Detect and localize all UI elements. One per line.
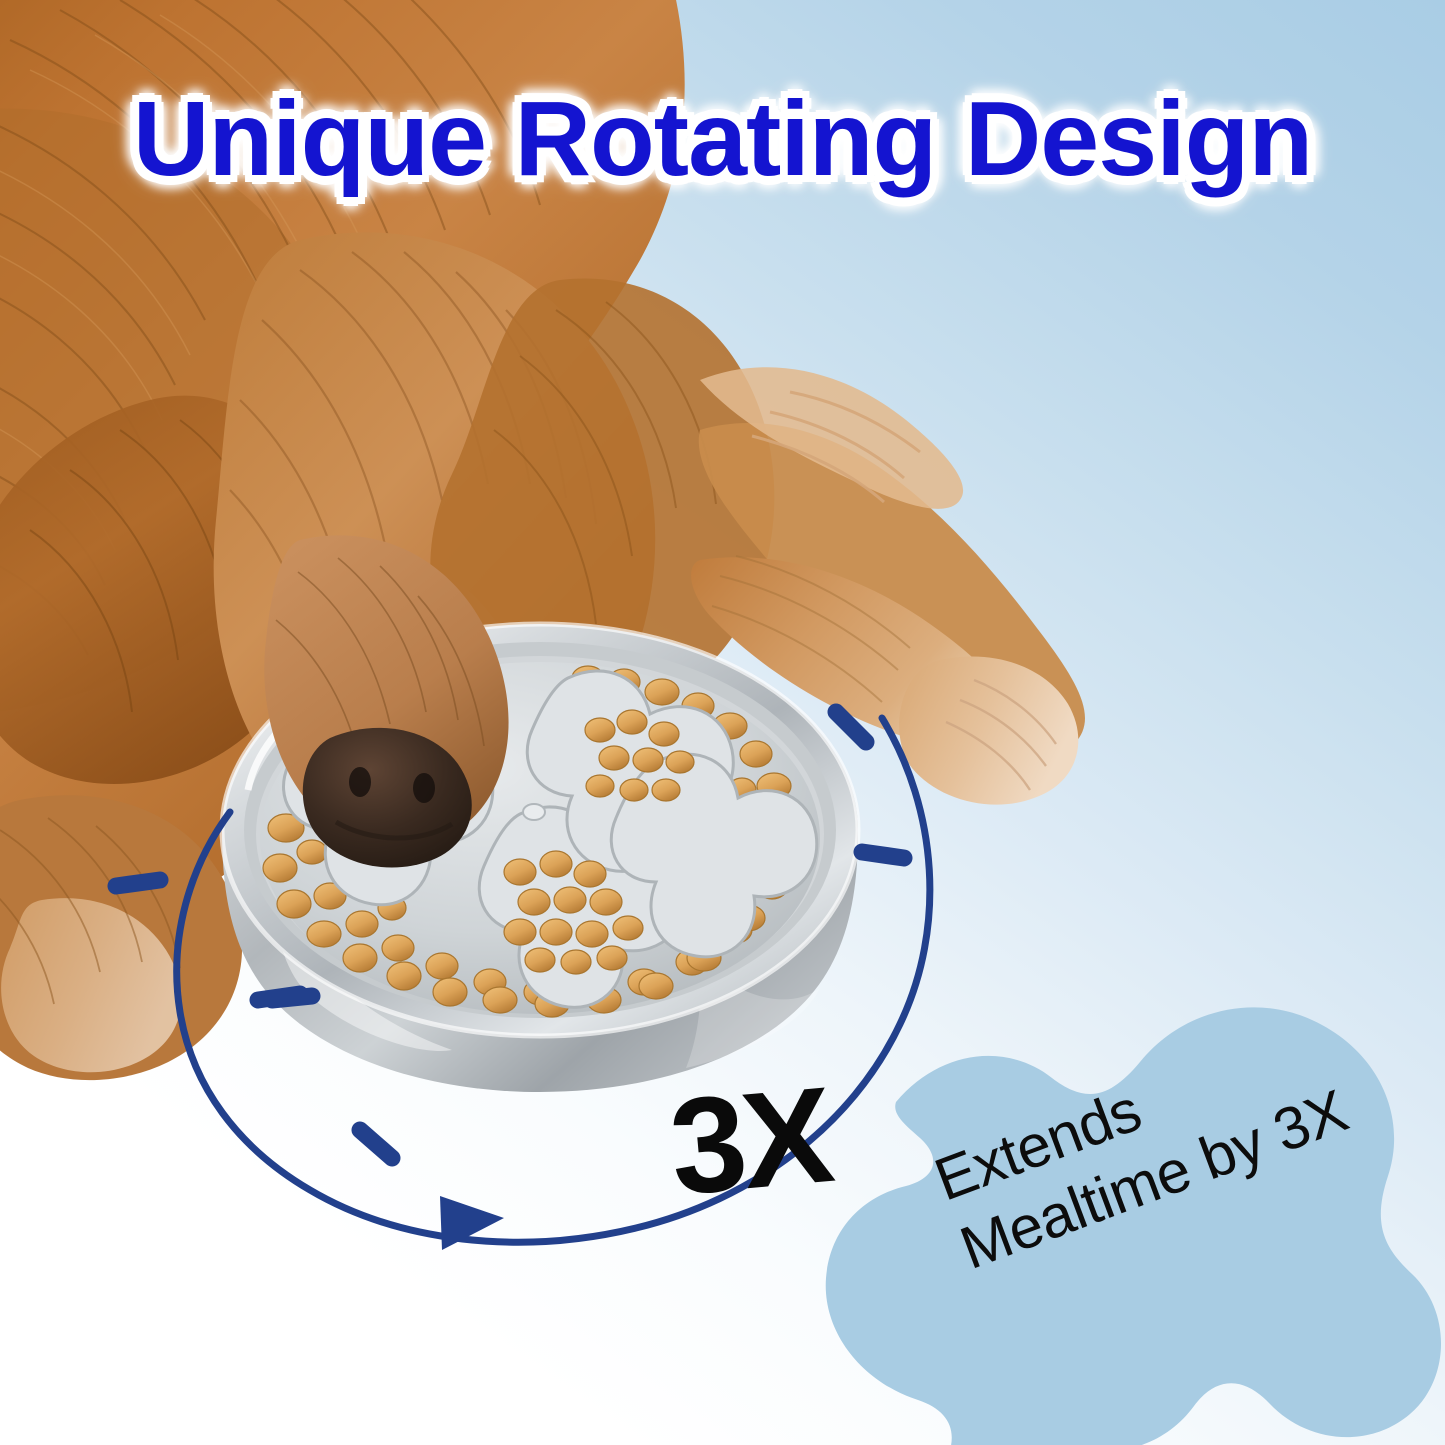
multiplier-badge: 3X (665, 1066, 835, 1215)
product-marketing-image: Extends Mealtime by 3X 3X Unique Rotatin… (0, 0, 1445, 1445)
page-title: Unique Rotating Design (0, 82, 1445, 196)
